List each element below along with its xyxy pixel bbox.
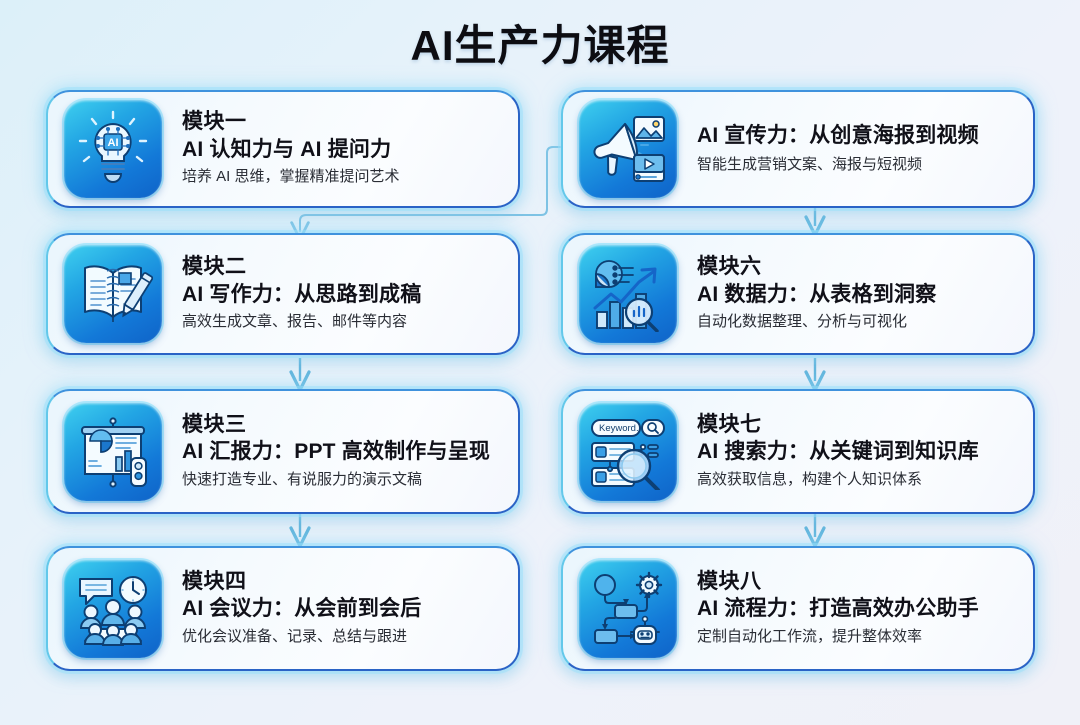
module-heading-4: AI 会议力：从会前到会后 — [182, 595, 502, 622]
module-heading-5: AI 宣传力：从创意海报到视频 — [697, 122, 1017, 149]
module-label-3: 模块三 — [182, 413, 502, 438]
module-heading-6: AI 数据力：从表格到洞察 — [697, 281, 1017, 308]
module-label-4: 模块四 — [182, 570, 502, 595]
module-subtitle-7: 高效获取信息，构建个人知识体系 — [697, 469, 1017, 491]
module-label-6: 模块六 — [697, 255, 1017, 280]
module-label-8: 模块八 — [697, 570, 1017, 595]
module-subtitle-8: 定制自动化工作流，提升整体效率 — [697, 626, 1017, 648]
module-subtitle-1: 培养 AI 思维，掌握精准提问艺术 — [182, 166, 502, 188]
card-text-1: 模块一 AI 认知力与 AI 提问力 培养 AI 思维，掌握精准提问艺术 — [180, 110, 502, 188]
gear-shape — [637, 573, 661, 597]
poster-canvas: AI生产力课程 — [0, 0, 1080, 725]
module-heading-7: AI 搜索力：从关键词到知识库 — [697, 438, 1017, 465]
module-heading-2: AI 写作力：从思路到成稿 — [182, 281, 502, 308]
projector-screen-chart-icon — [64, 403, 162, 501]
card-text-6: 模块六 AI 数据力：从表格到洞察 自动化数据整理、分析与可视化 — [695, 255, 1017, 333]
robot-shape — [631, 616, 659, 643]
megaphone-image-video-icon — [579, 100, 677, 198]
module-subtitle-4: 优化会议准备、记录、总结与跟进 — [182, 626, 502, 648]
card-text-8: 模块八 AI 流程力：打造高效办公助手 定制自动化工作流，提升整体效率 — [695, 570, 1017, 648]
card-text-2: 模块二 AI 写作力：从思路到成稿 高效生成文章、报告、邮件等内容 — [180, 255, 502, 333]
module-heading-3: AI 汇报力：PPT 高效制作与呈现 — [182, 438, 502, 465]
module-subtitle-3: 快速打造专业、有说服力的演示文稿 — [182, 469, 502, 491]
module-card-5[interactable]: AI 宣传力：从创意海报到视频 智能生成营销文案、海报与短视频 — [561, 90, 1035, 208]
module-heading-1: AI 认知力与 AI 提问力 — [182, 136, 502, 163]
module-card-3[interactable]: 模块三 AI 汇报力：PPT 高效制作与呈现 快速打造专业、有说服力的演示文稿 — [46, 389, 520, 514]
module-label-2: 模块二 — [182, 255, 502, 280]
search-knowledge-base-icon: Keyword... — [579, 403, 677, 501]
card-text-7: 模块七 AI 搜索力：从关键词到知识库 高效获取信息，构建个人知识体系 — [695, 413, 1017, 491]
keyword-placeholder-text: Keyword... — [599, 423, 644, 434]
charts-trend-magnifier-icon — [579, 245, 677, 343]
module-card-1[interactable]: AI 模块一 AI 认知力与 AI 提问力 培养 AI 思维，掌握精准提问艺术 — [46, 90, 520, 208]
module-card-4[interactable]: 模块四 AI 会议力：从会前到会后 优化会议准备、记录、总结与跟进 — [46, 546, 520, 671]
card-text-3: 模块三 AI 汇报力：PPT 高效制作与呈现 快速打造专业、有说服力的演示文稿 — [180, 413, 502, 491]
card-text-4: 模块四 AI 会议力：从会前到会后 优化会议准备、记录、总结与跟进 — [180, 570, 502, 648]
card-text-5: AI 宣传力：从创意海报到视频 智能生成营销文案、海报与短视频 — [695, 122, 1017, 175]
module-card-7[interactable]: Keyword... — [561, 389, 1035, 514]
module-subtitle-5: 智能生成营销文案、海报与短视频 — [697, 154, 1017, 176]
module-heading-8: AI 流程力：打造高效办公助手 — [697, 595, 1017, 622]
ai-chip-label: AI — [108, 137, 119, 149]
open-notebook-pen-icon — [64, 245, 162, 343]
keyword-search-field: Keyword... — [592, 420, 664, 436]
module-card-8[interactable]: 模块八 AI 流程力：打造高效办公助手 定制自动化工作流，提升整体效率 — [561, 546, 1035, 671]
module-card-2[interactable]: 模块二 AI 写作力：从思路到成稿 高效生成文章、报告、邮件等内容 — [46, 233, 520, 355]
module-label-7: 模块七 — [697, 413, 1017, 438]
workflow-robot-gear-icon — [579, 560, 677, 658]
meeting-people-clock-icon — [64, 560, 162, 658]
page-title: AI生产力课程 — [0, 12, 1080, 73]
module-card-6[interactable]: 模块六 AI 数据力：从表格到洞察 自动化数据整理、分析与可视化 — [561, 233, 1035, 355]
lightbulb-ai-chip-icon: AI — [64, 100, 162, 198]
module-subtitle-6: 自动化数据整理、分析与可视化 — [697, 311, 1017, 333]
module-subtitle-2: 高效生成文章、报告、邮件等内容 — [182, 311, 502, 333]
module-label-1: 模块一 — [182, 110, 502, 135]
